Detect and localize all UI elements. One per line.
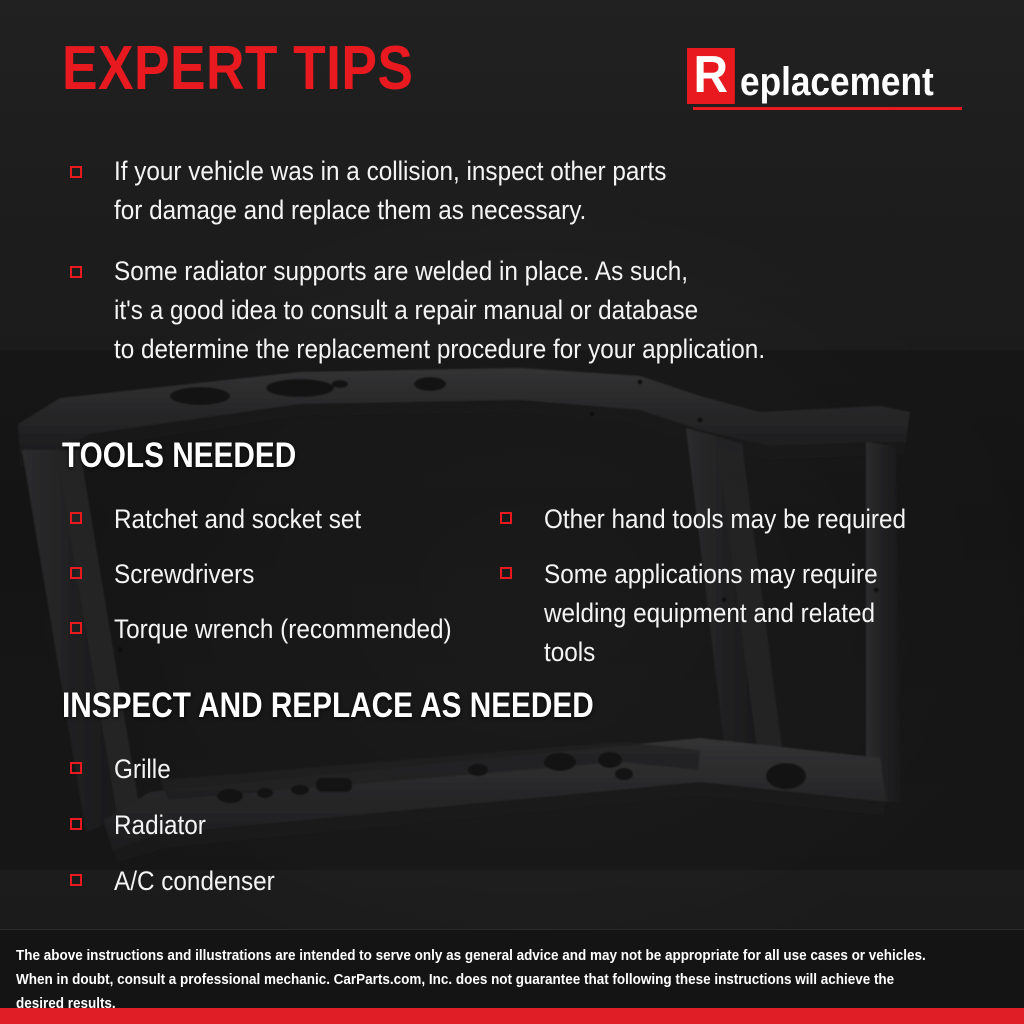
list-item: Ratchet and socket set (62, 500, 492, 539)
list-item: If your vehicle was in a collision, insp… (62, 152, 982, 230)
expert-tips-card: EXPERT TIPS R eplacement If your vehicle… (0, 0, 1024, 1024)
list-item-label: Grille (114, 750, 607, 789)
list-item-label: Other hand tools may be required (544, 500, 929, 539)
list-item-label: Some radiator supports are welded in pla… (114, 252, 895, 369)
disclaimer-text: The above instructions and illustrations… (16, 944, 941, 1016)
logo-badge-letter: R (687, 48, 734, 104)
list-item-label: A/C condenser (114, 862, 607, 901)
square-bullet-icon (70, 622, 82, 634)
list-item-label: Ratchet and socket set (114, 500, 454, 539)
logo-wordmark: eplacement (740, 62, 934, 102)
square-bullet-icon (70, 818, 82, 830)
list-item: Grille (62, 750, 662, 789)
square-bullet-icon (70, 266, 82, 278)
square-bullet-icon (70, 567, 82, 579)
list-item: Some applications may require welding eq… (492, 555, 972, 672)
list-item: Screwdrivers (62, 555, 492, 594)
tools-needed-heading: TOOLS NEEDED (62, 438, 296, 473)
list-item-label: Some applications may require welding eq… (544, 555, 929, 672)
tools-right-column: Other hand tools may be required Some ap… (492, 500, 972, 688)
list-item: Radiator (62, 806, 662, 845)
square-bullet-icon (70, 166, 82, 178)
intro-bullet-list: If your vehicle was in a collision, insp… (62, 152, 982, 391)
bottom-accent-bar (0, 1008, 1024, 1024)
inspect-replace-heading: INSPECT AND REPLACE AS NEEDED (62, 688, 594, 723)
square-bullet-icon (500, 512, 512, 524)
list-item-label: Torque wrench (recommended) (114, 610, 454, 649)
list-item: A/C condenser (62, 862, 662, 901)
square-bullet-icon (70, 762, 82, 774)
inspect-replace-list: Grille Radiator A/C condenser (62, 750, 662, 918)
logo-underline (693, 107, 962, 110)
list-item: Some radiator supports are welded in pla… (62, 252, 982, 369)
square-bullet-icon (500, 567, 512, 579)
list-item: Torque wrench (recommended) (62, 610, 492, 649)
tools-left-column: Ratchet and socket set Screwdrivers Torq… (62, 500, 492, 688)
tools-needed-columns: Ratchet and socket set Screwdrivers Torq… (62, 500, 982, 688)
header: EXPERT TIPS R eplacement (0, 0, 1024, 130)
list-item-label: If your vehicle was in a collision, insp… (114, 152, 895, 230)
list-item-label: Radiator (114, 806, 607, 845)
replacement-logo: R eplacement (687, 48, 960, 108)
square-bullet-icon (70, 512, 82, 524)
list-item: Other hand tools may be required (492, 500, 972, 539)
square-bullet-icon (70, 874, 82, 886)
list-item-label: Screwdrivers (114, 555, 454, 594)
footer-disclaimer-bar: The above instructions and illustrations… (0, 929, 1024, 1008)
page-title: EXPERT TIPS (62, 38, 413, 100)
